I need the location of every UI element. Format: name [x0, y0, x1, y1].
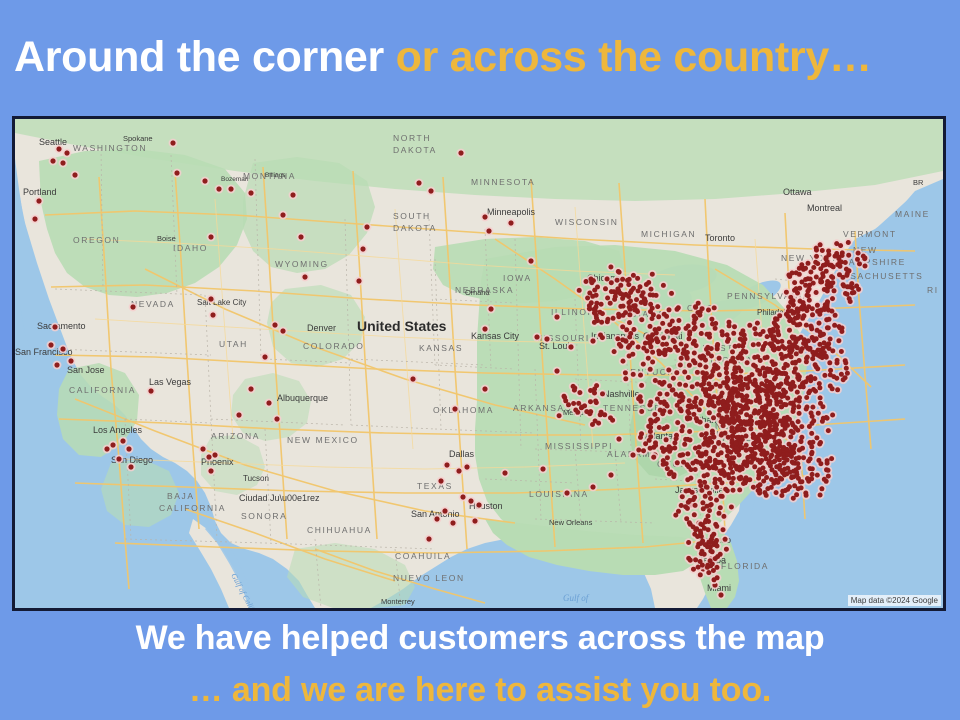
map-city-label: Boise [157, 234, 176, 243]
map-state-label: VERMONT [843, 229, 897, 239]
map-city-label: Spokane [123, 134, 153, 143]
map-city-label: BR [913, 178, 924, 187]
map-state-label: MINNESOTA [471, 177, 535, 187]
map-state-label: COAHUILA [395, 551, 451, 561]
map-state-label: SONORA [241, 511, 287, 521]
map-water-label: Gulf of [563, 593, 590, 603]
map-state-label: MISSISSIPPI [545, 441, 613, 451]
map-state-label: ARIZONA [211, 431, 260, 441]
map-city-label: New Orleans [549, 518, 593, 527]
map-canvas[interactable]: Gulf of California Gulf of WASHINGTON OR… [15, 119, 943, 608]
map-city-label: Omaha [465, 288, 490, 297]
map-state-label: CHIHUAHUA [307, 525, 372, 535]
map-city-label: Ottawa [783, 187, 812, 197]
map-state-label: NUEVO LEON [393, 573, 465, 583]
map-state-label: WISCONSIN [555, 217, 619, 227]
map-state-label: SOUTH [393, 211, 431, 221]
map-state-label: NEW MEXICO [287, 435, 359, 445]
map-city-label: Bozeman [221, 176, 249, 183]
map-city-label: San Jose [67, 365, 105, 375]
map-city-label: Tucson [243, 474, 269, 483]
map-frame[interactable]: Gulf of California Gulf of WASHINGTON OR… [12, 116, 946, 611]
map-city-label: Monterrey [381, 597, 415, 606]
map-state-label: UTAH [219, 339, 248, 349]
map-state-label: COLORADO [303, 341, 364, 351]
map-city-label: Ciudad Ju\u00e1rez [239, 493, 320, 503]
headline-gold-part: or across the country… [396, 33, 872, 81]
map-state-label: NEVADA [131, 299, 175, 309]
map-state-label: MICHIGAN [641, 229, 696, 239]
map-state-label: KANSAS [419, 343, 463, 353]
map-state-label: CALIFORNIA [159, 503, 226, 513]
map-state-label: TEXAS [417, 481, 453, 491]
map-state-label: NORTH [393, 133, 431, 143]
footer-line-1: We have helped customers across the map [0, 612, 960, 664]
map-city-label: Montreal [807, 203, 842, 213]
map-city-label: Seattle [39, 137, 67, 147]
map-state-label: DAKOTA [393, 223, 437, 233]
map-state-label: WYOMING [275, 259, 329, 269]
map-city-label: Los Angeles [93, 425, 143, 435]
map-state-label: DAKOTA [393, 145, 437, 155]
map-state-label: MAINE [895, 209, 930, 219]
map-state-label: BAJA [167, 491, 195, 501]
map-city-label: Portland [23, 187, 57, 197]
map-attribution: Map data ©2024 Google [848, 595, 941, 606]
map-state-label: IOWA [503, 273, 532, 283]
map-city-label: Las Vegas [149, 377, 192, 387]
map-city-label: Kansas City [471, 331, 520, 341]
map-state-label: RI [927, 285, 939, 295]
footer-line-2: … and we are here to assist you too. [0, 664, 960, 716]
map-state-label: CALIFORNIA [69, 385, 136, 395]
map-state-label: OREGON [73, 235, 120, 245]
map-state-label: IDAHO [173, 243, 208, 253]
map-city-label: Albuquerque [277, 393, 328, 403]
map-city-label: Minneapolis [487, 207, 536, 217]
map-image: Gulf of California Gulf of WASHINGTON OR… [15, 119, 943, 608]
map-city-label: Nashville [603, 389, 640, 399]
map-city-label: Toronto [705, 233, 735, 243]
map-state-label: OKLAHOMA [433, 405, 494, 415]
footer-text-block: We have helped customers across the map … [0, 612, 960, 716]
map-city-label: Salt Lake City [197, 298, 246, 307]
map-city-label: Denver [307, 323, 336, 333]
map-state-label: LOUISIANA [529, 489, 589, 499]
map-state-label: WASHINGTON [73, 143, 147, 153]
page-title: Around the corner or across the country… [14, 26, 949, 88]
map-city-label: Billings [265, 172, 286, 179]
map-city-label: Sacramento [37, 321, 86, 331]
headline-white-part: Around the corner [14, 33, 396, 81]
map-state-label: FLORIDA [721, 561, 769, 571]
map-city-label: Dallas [449, 449, 475, 459]
slide-root: Around the corner or across the country… [0, 0, 960, 720]
map-country-label: United States [357, 318, 447, 334]
